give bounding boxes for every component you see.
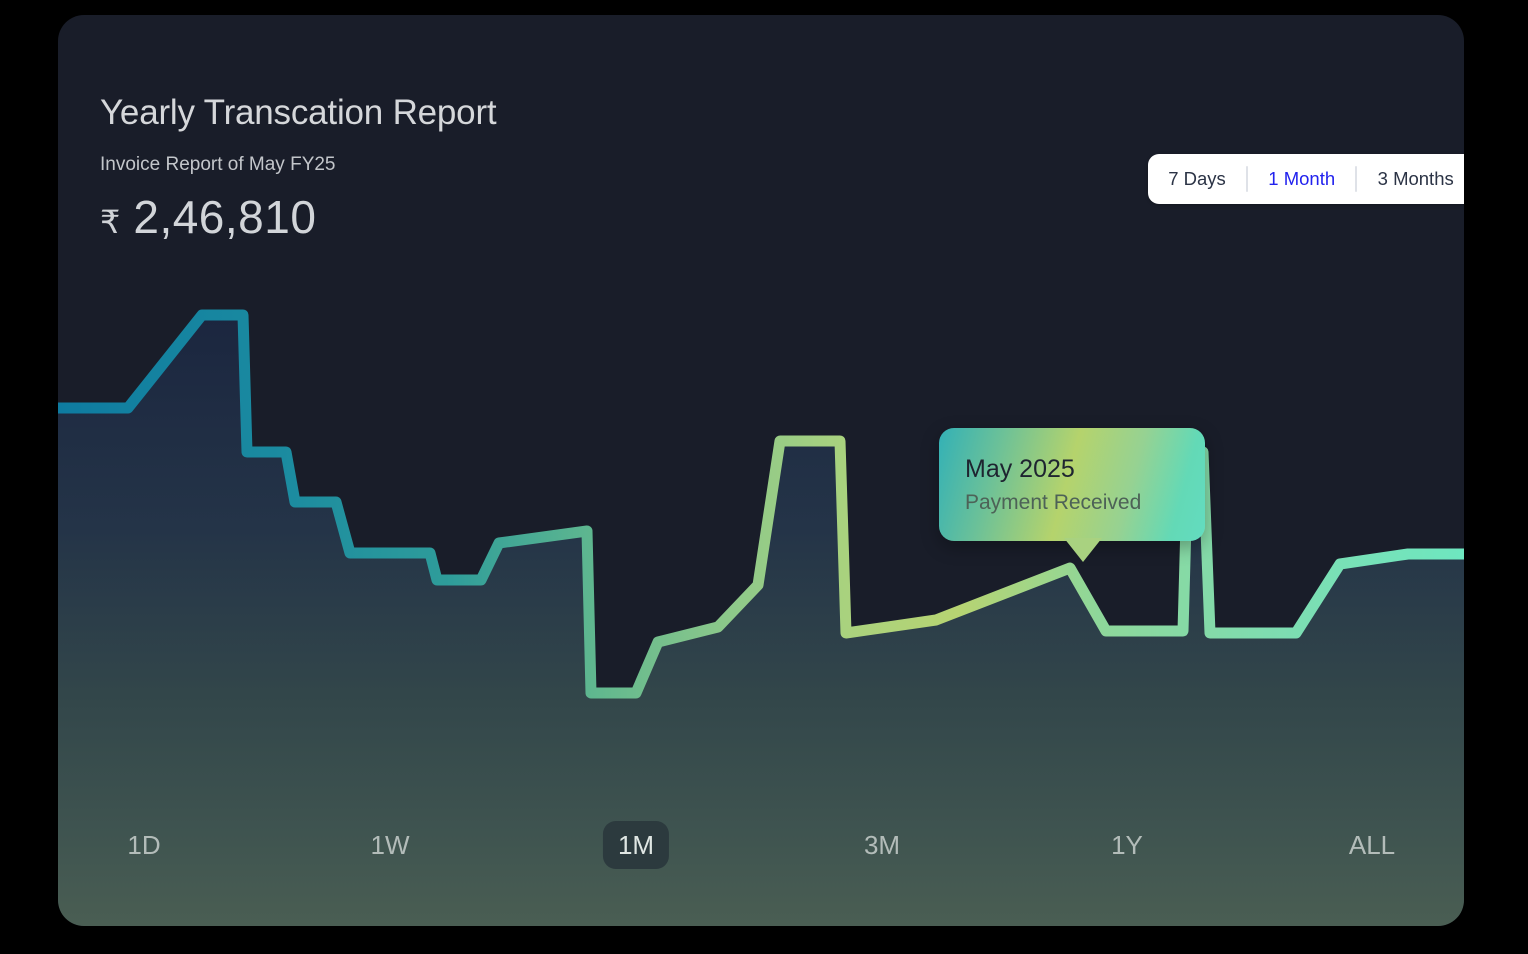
- time-range-selector[interactable]: 1D1W1M3M1YALL: [58, 820, 1464, 870]
- card-header: Yearly Transcation Report Invoice Report…: [100, 93, 496, 240]
- period-option-3-months[interactable]: 3 Months: [1357, 154, 1464, 204]
- range-option-3m[interactable]: 3M: [849, 821, 915, 869]
- tooltip-subtitle: Payment Received: [965, 490, 1141, 516]
- period-option-1-month[interactable]: 1 Month: [1248, 154, 1355, 204]
- range-option-1y[interactable]: 1Y: [1096, 821, 1158, 869]
- tooltip-pointer-icon: [1064, 538, 1102, 562]
- transaction-report-card: Yearly Transcation Report Invoice Report…: [58, 15, 1464, 926]
- period-option-7-days[interactable]: 7 Days: [1148, 154, 1246, 204]
- range-option-1w[interactable]: 1W: [356, 821, 425, 869]
- screenshot-root: Yearly Transcation Report Invoice Report…: [0, 0, 1528, 954]
- amount-value: 2,46,810: [133, 194, 316, 240]
- chart-tooltip: May 2025 Payment Received: [939, 428, 1205, 541]
- range-option-all[interactable]: ALL: [1334, 821, 1410, 869]
- page-subtitle: Invoice Report of May FY25: [100, 153, 496, 177]
- period-segmented-control[interactable]: 7 Days 1 Month 3 Months: [1148, 154, 1464, 204]
- range-option-1m[interactable]: 1M: [603, 821, 669, 869]
- page-title: Yearly Transcation Report: [100, 93, 496, 133]
- tooltip-title: May 2025: [965, 454, 1075, 484]
- rupee-icon: ₹: [100, 206, 120, 238]
- total-amount: ₹ 2,46,810: [100, 194, 496, 240]
- range-option-1d[interactable]: 1D: [112, 821, 175, 869]
